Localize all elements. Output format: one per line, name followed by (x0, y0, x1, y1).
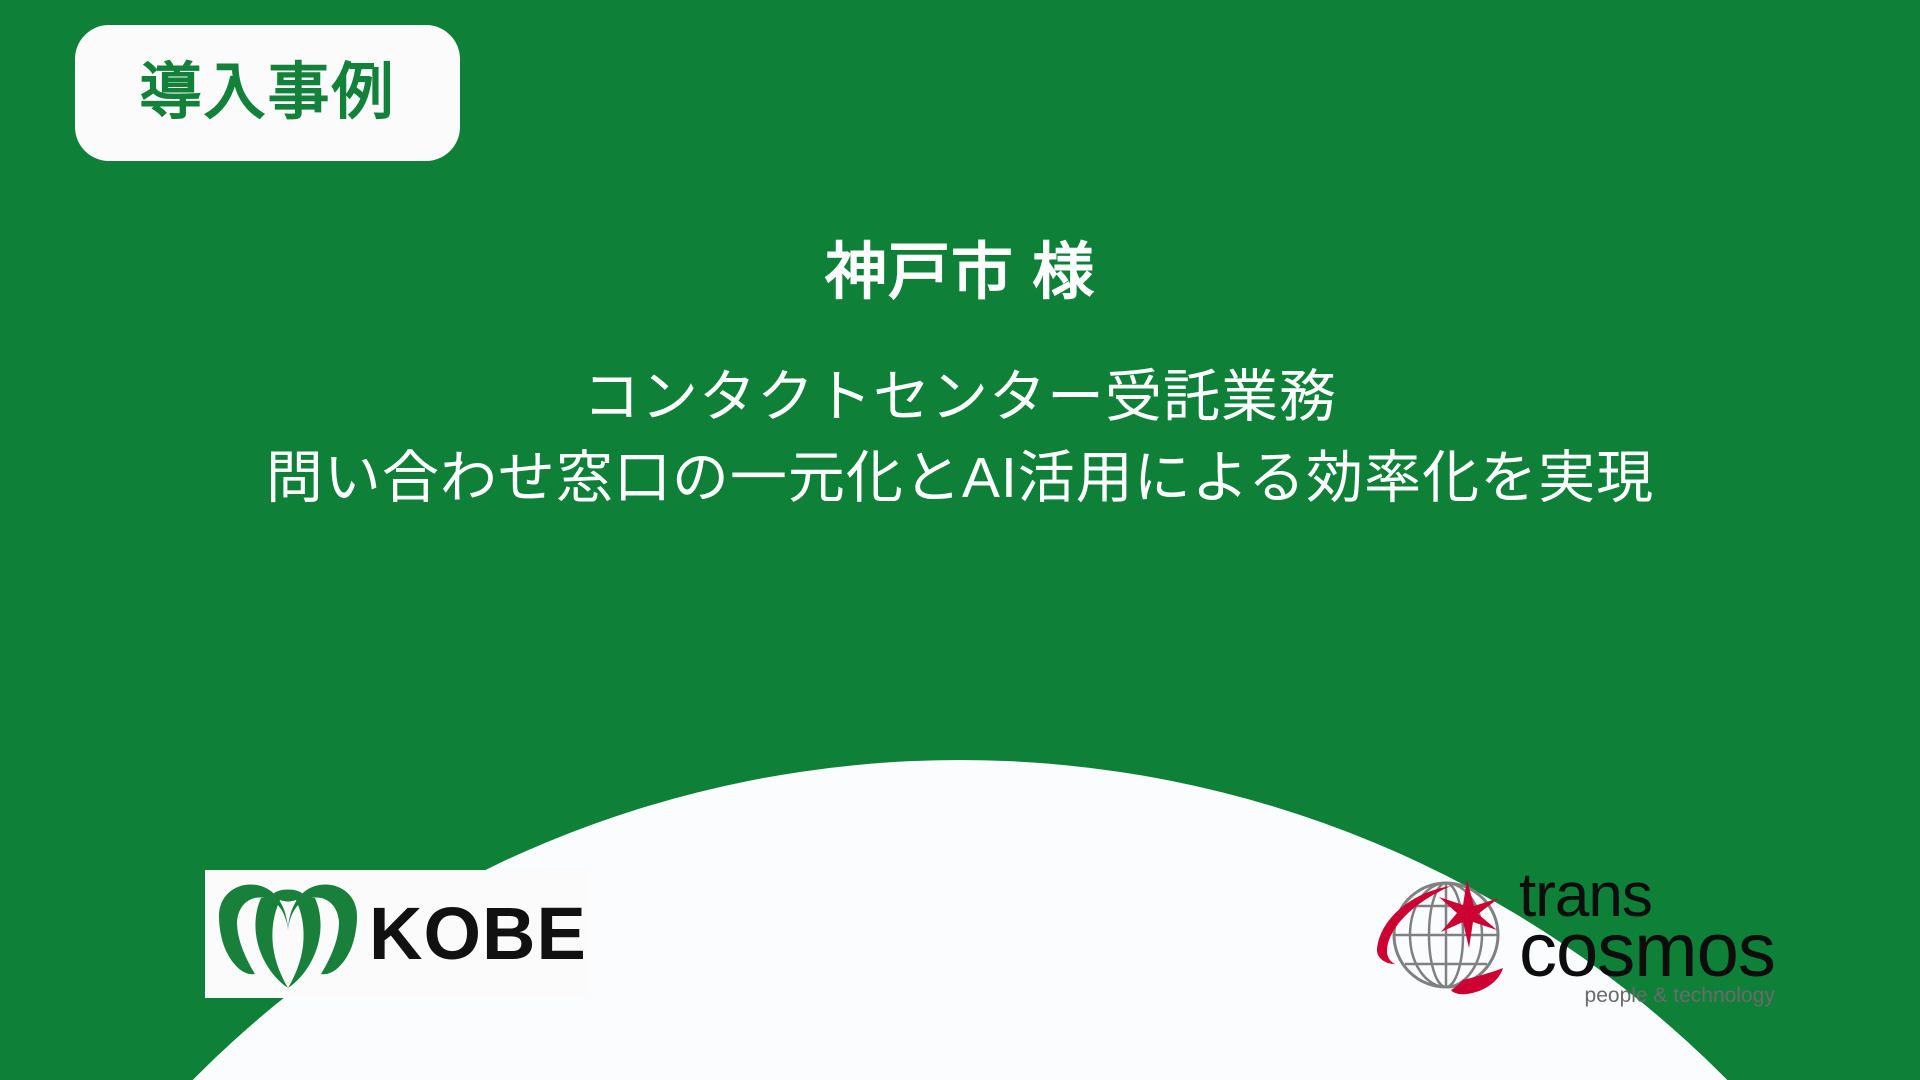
subtitle-block: コンタクトセンター受託業務 問い合わせ窓口の一元化とAI活用による効率化を実現 (0, 357, 1920, 519)
transcosmos-word-cosmos: cosmos (1519, 913, 1775, 989)
subtitle-line-outcome: 問い合わせ窓口の一元化とAI活用による効率化を実現 (0, 438, 1920, 519)
case-study-badge-label: 導入事例 (139, 62, 395, 124)
logo-row: KOBE trans (0, 850, 1920, 1080)
client-name-title: 神戸市 様 (0, 236, 1920, 309)
transcosmos-wordmark: trans cosmos people & technology (1519, 865, 1775, 1006)
transcosmos-globe-icon (1375, 864, 1517, 1006)
kobe-wordmark: KOBE (369, 897, 587, 971)
headline-block: 神戸市 様 コンタクトセンター受託業務 問い合わせ窓口の一元化とAI活用による効… (0, 236, 1920, 519)
case-study-badge: 導入事例 (75, 25, 460, 161)
kobe-mark-icon (213, 878, 363, 990)
slide-canvas: 導入事例 神戸市 様 コンタクトセンター受託業務 問い合わせ窓口の一元化とAI活… (0, 0, 1920, 1080)
transcosmos-logo: trans cosmos people & technology (1375, 860, 1775, 1010)
subtitle-line-service: コンタクトセンター受託業務 (0, 357, 1920, 438)
kobe-city-logo: KOBE (205, 870, 590, 998)
